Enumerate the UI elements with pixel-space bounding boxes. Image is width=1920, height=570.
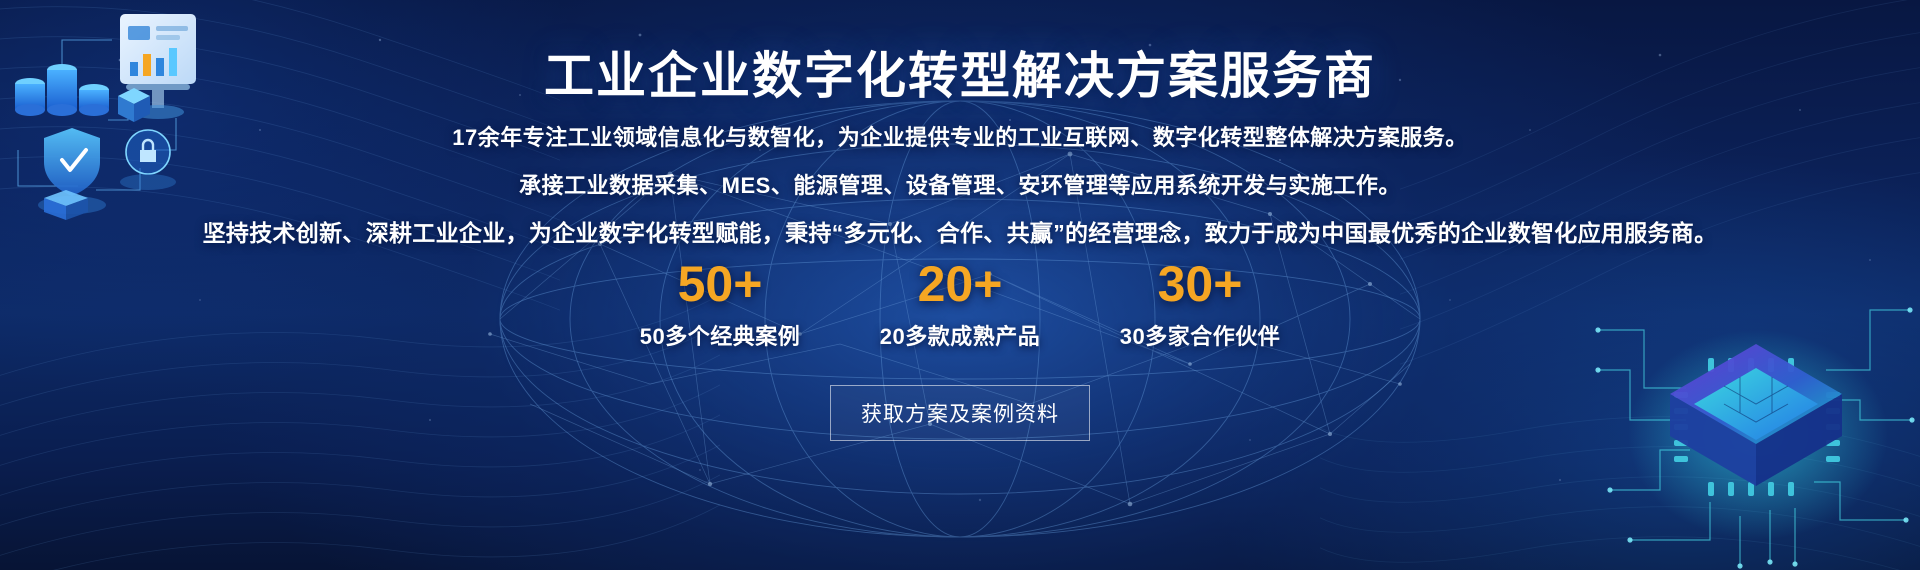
stats-row: 50+ 50多个经典案例 20+ 20多款成熟产品 30+ 30多家合作伙伴	[0, 258, 1920, 351]
stat-label: 30多家合作伙伴	[1080, 319, 1320, 351]
stat-item-products: 20+ 20多款成熟产品	[840, 258, 1080, 351]
stat-value: 50+	[600, 258, 840, 311]
subtitle-line-3: 坚持技术创新、深耕工业企业，为企业数字化转型赋能，秉持“多元化、合作、共赢”的经…	[0, 214, 1920, 248]
get-materials-button[interactable]: 获取方案及案例资料	[830, 385, 1090, 441]
subtitle-line-2: 承接工业数据采集、MES、能源管理、设备管理、安环管理等应用系统开发与实施工作。	[0, 168, 1920, 200]
banner-content: 工业企业数字化转型解决方案服务商 17余年专注工业领域信息化与数智化，为企业提供…	[0, 0, 1920, 570]
stat-label: 20多款成熟产品	[840, 319, 1080, 351]
stat-item-cases: 50+ 50多个经典案例	[600, 258, 840, 351]
stat-label: 50多个经典案例	[600, 319, 840, 351]
subtitle-line-1: 17余年专注工业领域信息化与数智化，为企业提供专业的工业互联网、数字化转型整体解…	[0, 120, 1920, 152]
page-title: 工业企业数字化转型解决方案服务商	[0, 36, 1920, 108]
stat-item-partners: 30+ 30多家合作伙伴	[1080, 258, 1320, 351]
promo-banner: 工业企业数字化转型解决方案服务商 17余年专注工业领域信息化与数智化，为企业提供…	[0, 0, 1920, 570]
stat-value: 30+	[1080, 258, 1320, 311]
stat-value: 20+	[840, 258, 1080, 311]
